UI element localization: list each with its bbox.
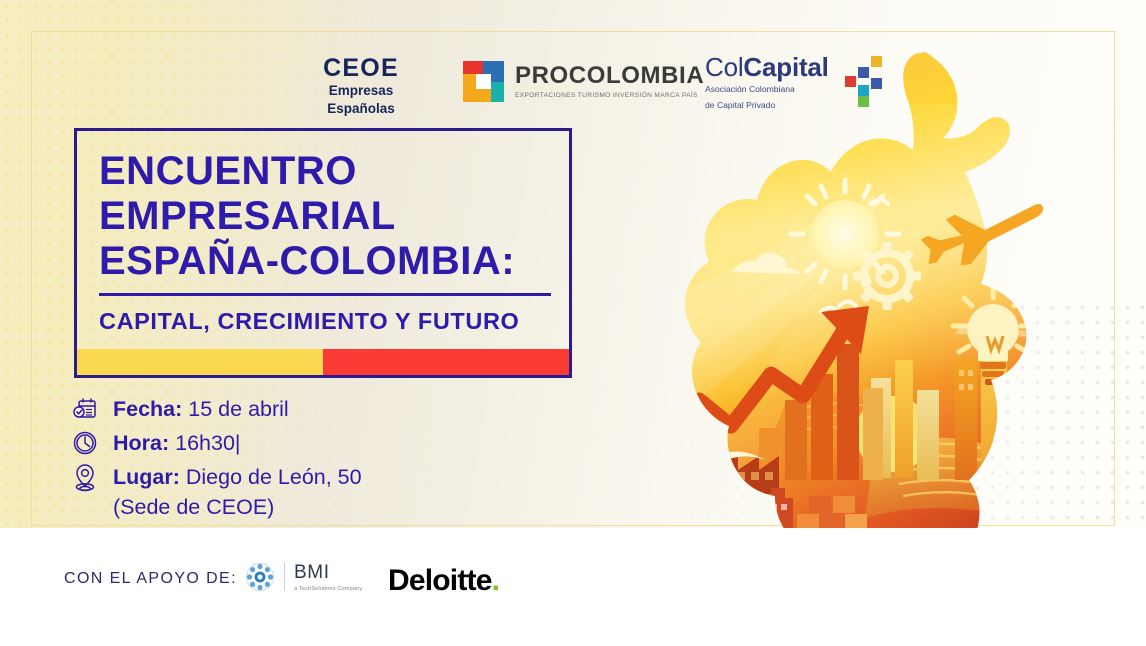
title-subtitle: CAPITAL, CRECIMIENTO Y FUTURO [77, 296, 569, 335]
detail-label-venue: Lugar: [113, 465, 180, 489]
bmi-logo-wordmark: BMI [294, 563, 362, 582]
deloitte-logo-wordmark: Deloitte [388, 564, 492, 597]
deloitte-logo-dot: . [492, 564, 500, 597]
ceoe-logo-wordmark: CEOE [305, 56, 417, 81]
ceoe-logo: CEOE Empresas Españolas [305, 56, 417, 117]
bmi-logo: BMI a TechSolutions Company [245, 562, 362, 592]
procolombia-logo: PROCOLOMBIA EXPORTACIONES TURISMO INVERS… [463, 61, 704, 102]
title-line-3: ESPAÑA-COLOMBIA: [77, 239, 569, 284]
location-pin-icon [70, 462, 100, 492]
bmi-logo-divider [284, 563, 285, 591]
deloitte-logo: Deloitte. [388, 564, 499, 598]
partner-logos-row: CEOE Empresas Españolas PROCOLOMBIA EXPO… [0, 50, 1146, 116]
colcapital-logo-squares [845, 56, 895, 102]
detail-row-date: Fecha: 15 de abril [70, 394, 530, 424]
event-poster: CEOE Empresas Españolas PROCOLOMBIA EXPO… [0, 0, 1146, 646]
detail-row-time: Hora: 16h30| [70, 428, 530, 458]
colcapital-logo-capital: Capital [743, 52, 828, 82]
title-card: ENCUENTRO EMPRESARIAL ESPAÑA-COLOMBIA: C… [74, 128, 572, 378]
event-details: Fecha: 15 de abril Hora: 16h30| [70, 394, 530, 522]
colcapital-logo-col: Col [705, 52, 743, 82]
detail-row-venue: Lugar: Diego de León, 50 [70, 462, 530, 492]
procolombia-logo-wordmark: PROCOLOMBIA [515, 64, 704, 88]
colcapital-logo-sub2: de Capital Privado [705, 100, 829, 112]
bmi-logo-tagline: a TechSolutions Company [294, 586, 362, 592]
ceoe-logo-line1: Empresas [305, 84, 417, 99]
colombia-flag-bar [77, 349, 569, 375]
detail-label-date: Fecha: [113, 397, 182, 421]
clock-icon [70, 428, 100, 458]
calendar-icon [70, 394, 100, 424]
detail-value-venue-line2: (Sede de CEOE) [70, 494, 530, 522]
detail-value-venue: Diego de León, 50 [186, 465, 362, 489]
detail-label-time: Hora: [113, 431, 169, 455]
procolombia-logo-tagline: EXPORTACIONES TURISMO INVERSIÓN MARCA PA… [515, 92, 704, 99]
title-line-1: ENCUENTRO [77, 131, 569, 194]
title-line-2: EMPRESARIAL [77, 194, 569, 239]
colcapital-logo: ColCapital Asociación Colombiana de Capi… [705, 54, 829, 111]
bmi-logo-mark [245, 562, 275, 592]
detail-value-time: 16h30| [175, 431, 240, 455]
ceoe-logo-line2: Españolas [305, 102, 417, 117]
procolombia-logo-mark [463, 61, 504, 102]
support-label: CON EL APOYO DE: [64, 570, 237, 588]
colcapital-logo-sub1: Asociación Colombiana [705, 84, 829, 96]
detail-value-date: 15 de abril [188, 397, 288, 421]
flag-bar-red [323, 349, 569, 375]
flag-bar-yellow [77, 349, 323, 375]
